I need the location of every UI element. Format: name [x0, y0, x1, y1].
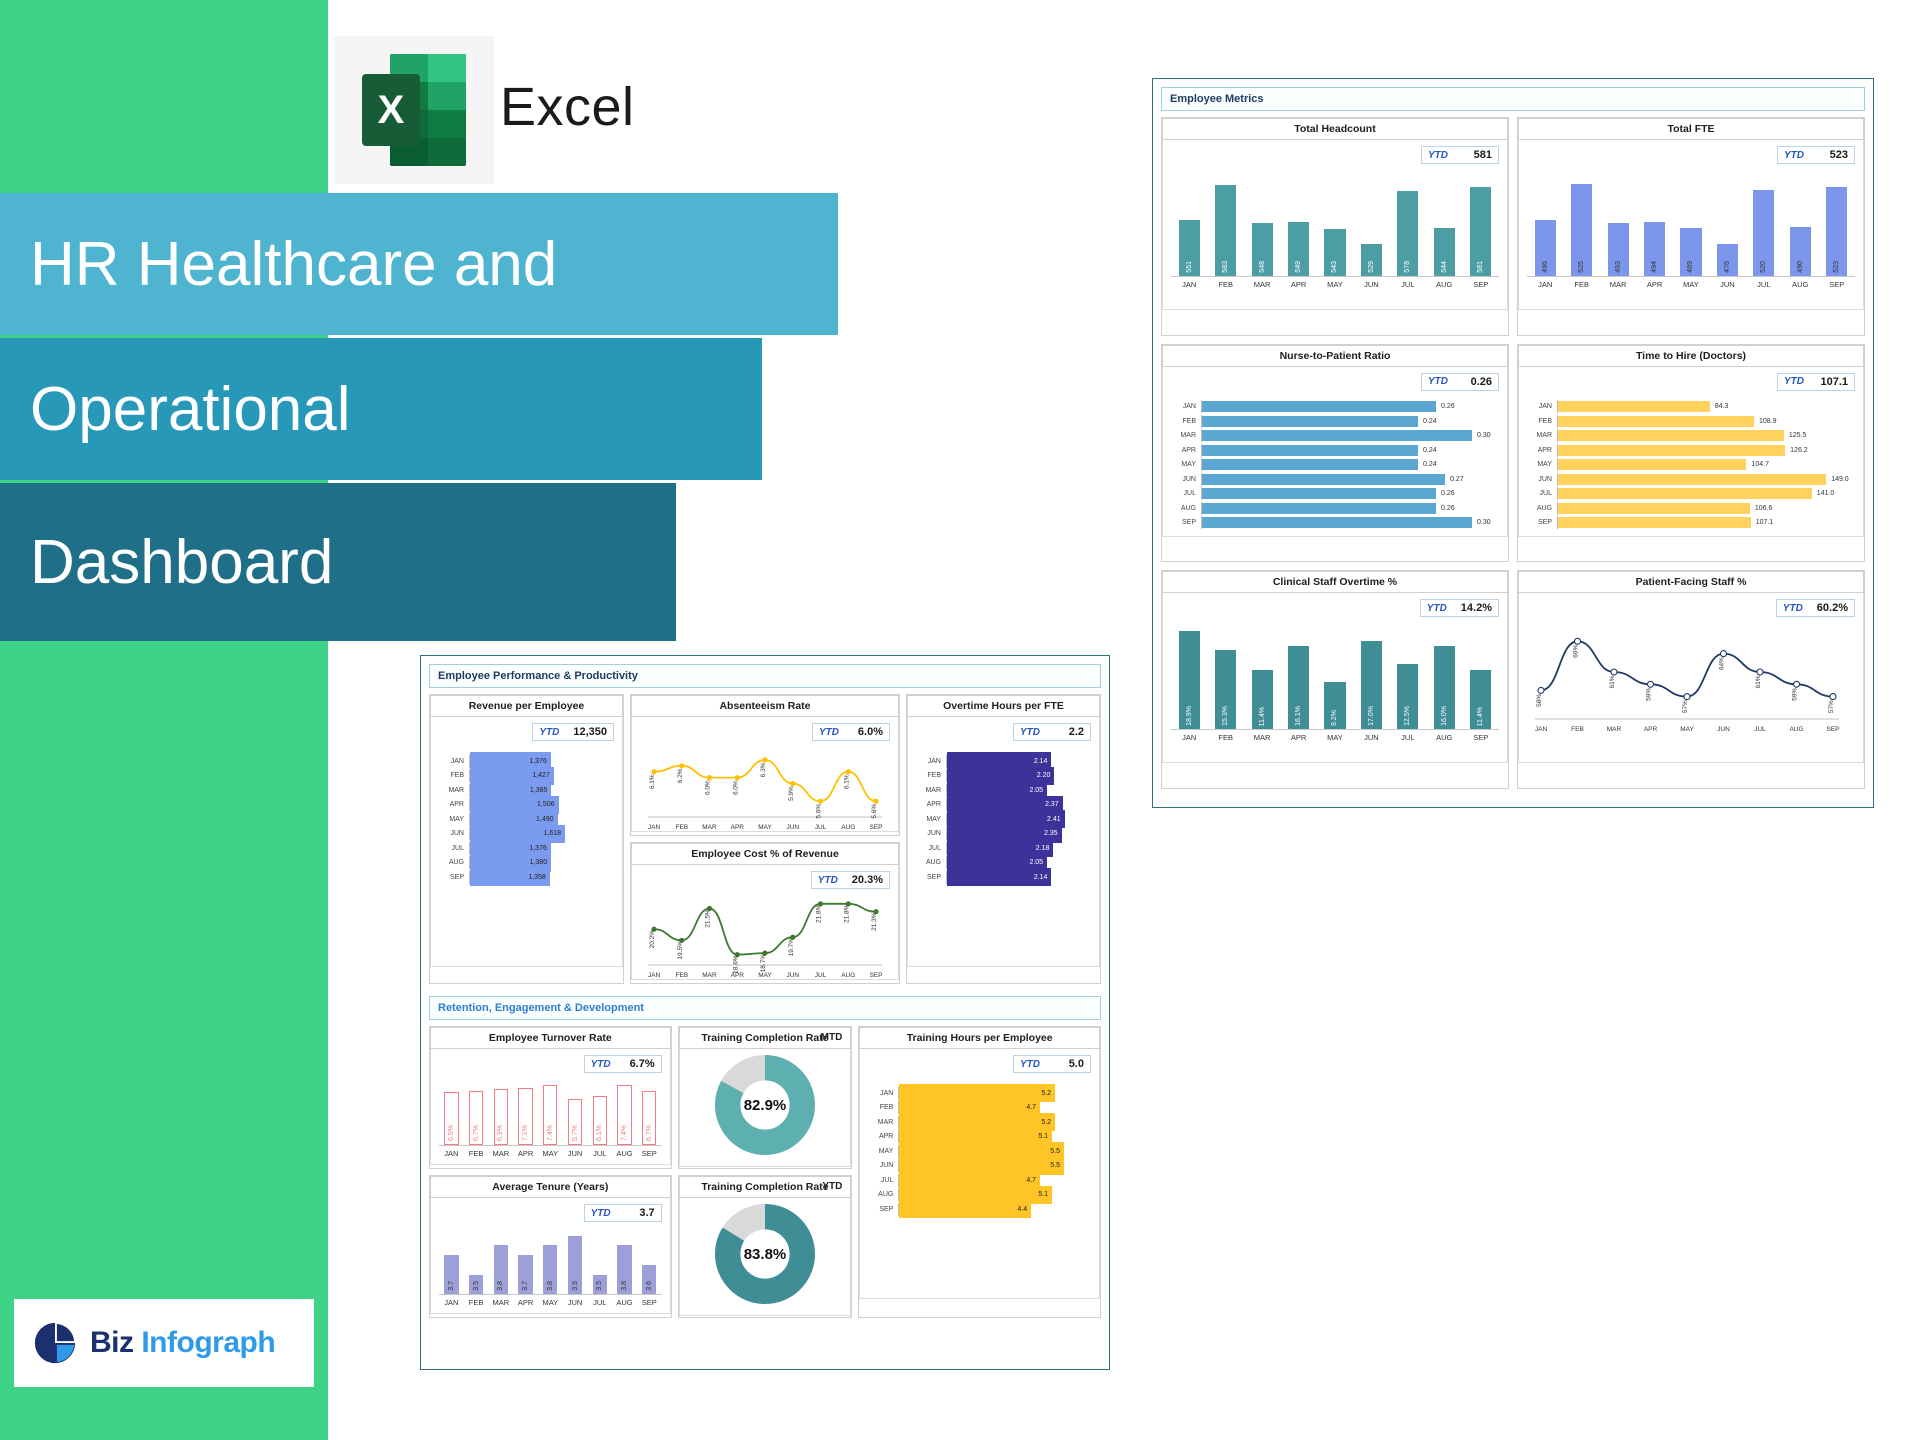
category-label: AUG [868, 1191, 898, 1198]
data-point [1757, 669, 1763, 675]
bar: 4.4 [899, 1200, 1031, 1218]
category-label: MAY [1171, 461, 1201, 468]
page-title-line1: HR Healthcare and [0, 193, 838, 335]
bar-column: 6.1% [587, 1077, 612, 1145]
bar-value-label: 1,376 [529, 758, 547, 765]
chart-title: Training Completion RateYTD [679, 1176, 852, 1198]
bar-value-label: 6.5% [448, 1125, 455, 1141]
bar-row: AUG 106.6 [1527, 502, 1855, 515]
bar: 3.5 [593, 1275, 607, 1294]
bar: 548 [1252, 223, 1273, 276]
ytd-label: YTD [539, 727, 559, 738]
data-label: 5.9% [788, 786, 795, 801]
category-label: JAN [439, 758, 469, 765]
ytd-badge: YTD 6.7% [584, 1055, 662, 1073]
bar-column: 581 [1463, 172, 1499, 276]
category-label: JUL [916, 845, 946, 852]
axis-tick-label: FEB [464, 1298, 489, 1307]
bar: 5.7% [568, 1099, 582, 1145]
axis-tick-label: AUG [612, 1149, 637, 1158]
bar [1202, 445, 1418, 456]
bar-column: 9.2% [1317, 625, 1353, 729]
category-label: MAY [868, 1148, 898, 1155]
category-label: SEP [1527, 519, 1557, 526]
bar-value-label: 2.14 [1034, 758, 1048, 765]
bar-value-label: 6.7% [473, 1125, 480, 1141]
category-label: APR [1527, 447, 1557, 454]
axis-tick-label: FEB [675, 824, 688, 831]
chart-title: Total FTE [1518, 118, 1864, 140]
bar-value-label: 3.7 [448, 1281, 455, 1291]
bar-column: 5.7% [563, 1077, 588, 1145]
ytd-badge: YTD 0.26 [1421, 373, 1499, 391]
bar-track: 0.26 [1201, 487, 1499, 500]
ytd-label: YTD [1784, 376, 1804, 387]
axis-tick-label: APR [1280, 280, 1316, 289]
ytd-badge: YTD 14.2% [1420, 599, 1499, 617]
app-name-label: Excel [500, 76, 635, 138]
data-label: 6.3% [760, 762, 767, 777]
bar-column: 6.7% [464, 1077, 489, 1145]
data-label: 6.1% [843, 774, 850, 789]
plot-area: 82.9% [688, 1051, 843, 1159]
bar-column: 493 [1600, 172, 1636, 276]
bar-row: JUN 149.0 [1527, 473, 1855, 486]
bar-row: SEP 1,358 [439, 871, 614, 884]
bar: 543 [1324, 229, 1345, 276]
panel-clinical-staff-overtime: Clinical Staff Overtime % YTD 14.2% 18.9… [1161, 570, 1509, 789]
bar-value-label: 141.0 [1817, 490, 1835, 497]
bar-value-label: 583 [1222, 261, 1229, 273]
bar-value-label: 104.7 [1751, 461, 1769, 468]
axis-tick-label: JAN [1171, 280, 1207, 289]
data-point [1611, 669, 1617, 675]
ytd-badge: YTD 107.1 [1777, 373, 1855, 391]
bar-value-label: 5.2 [1041, 1119, 1051, 1126]
bar-column: 3.5 [587, 1226, 612, 1294]
bar-column: 520 [1746, 172, 1782, 276]
x-axis: JANFEBMARAPRMAYJUNJULAUGSEP [439, 1294, 662, 1307]
axis-tick-label: FEB [675, 972, 688, 979]
bar-track: 2.14 [946, 871, 1091, 884]
biz-infograph-logo: Biz Infograph [14, 1299, 314, 1387]
panel-overtime-hours-per-fte: Overtime Hours per FTE YTD 2.2 JAN 2.14 … [906, 694, 1101, 984]
bar-column: 3.5 [464, 1226, 489, 1294]
bar-value-label: 5.2 [1041, 1090, 1051, 1097]
bar-value-label: 523 [1833, 261, 1840, 273]
bar-column: 17.0% [1353, 625, 1389, 729]
axis-tick-label: APR [731, 824, 745, 831]
chart-title: Employee Cost % of Revenue [631, 843, 899, 865]
category-label: AUG [439, 859, 469, 866]
axis-tick-label: JUL [1746, 280, 1782, 289]
section-header-employee-metrics: Employee Metrics [1161, 87, 1865, 111]
plot-area: 551 583 548 549 543 529 578 [1171, 172, 1499, 276]
bar-column: 578 [1390, 172, 1426, 276]
bar-column: 6.9% [488, 1077, 513, 1145]
bar: 7.4% [543, 1085, 557, 1145]
data-point [651, 769, 656, 774]
chart-title: Total Headcount [1162, 118, 1508, 140]
axis-tick-label: APR [731, 972, 745, 979]
data-label: 61% [1755, 676, 1762, 689]
bar-track: 141.0 [1557, 487, 1855, 500]
plot-area: 496 525 493 494 489 476 520 [1527, 172, 1855, 276]
bar-value-label: 16.0% [1441, 706, 1448, 726]
axis-tick-label: SEP [1826, 726, 1839, 733]
bar: 494 [1644, 222, 1665, 276]
axis-tick-label: JAN [439, 1298, 464, 1307]
excel-logo-badge: X [334, 36, 494, 184]
bar: 493 [1608, 223, 1629, 276]
data-point [735, 775, 740, 780]
bar-track: 107.1 [1557, 516, 1855, 529]
bar: 3.7 [518, 1255, 532, 1294]
axis-tick-label: JUL [1754, 726, 1766, 733]
axis-tick-label: MAY [538, 1149, 563, 1158]
bar: 549 [1288, 222, 1309, 276]
bar-track: 0.26 [1201, 502, 1499, 515]
bar-value-label: 5.1 [1038, 1133, 1048, 1140]
excel-icon: X [362, 54, 466, 166]
bar-value-label: 494 [1651, 261, 1658, 273]
section-header-retention: Retention, Engagement & Development [429, 996, 1101, 1020]
bar-value-label: 578 [1404, 261, 1411, 273]
ytd-label: YTD [591, 1059, 611, 1070]
bar-value-label: 2.05 [1029, 859, 1043, 866]
data-label: 6.0% [705, 780, 712, 795]
axis-tick-label: MAY [1680, 726, 1694, 733]
data-label: 59% [1792, 688, 1799, 701]
category-label: JUN [868, 1162, 898, 1169]
bar-track: 0.30 [1201, 516, 1499, 529]
period-label: MTD [821, 1032, 843, 1043]
data-label: 21.3% [871, 912, 878, 931]
axis-tick-label: MAY [758, 972, 772, 979]
category-label: JUL [1527, 490, 1557, 497]
ytd-badge: YTD 12,350 [532, 723, 614, 741]
ytd-badge: YTD 5.0 [1013, 1055, 1091, 1073]
bar [1202, 474, 1445, 485]
page-title-line3: Dashboard [0, 483, 676, 641]
bar-track: 108.9 [1557, 415, 1855, 428]
plot-area: 6.5% 6.7% 6.9% 7.1% 7.4% 5.7% 6. [439, 1077, 662, 1145]
data-label: 18.7% [760, 954, 767, 973]
axis-tick-label: FEB [1207, 733, 1243, 742]
bar-value-label: 5.1 [1038, 1191, 1048, 1198]
axis-tick-label: MAR [488, 1298, 513, 1307]
axis-tick-label: FEB [1571, 726, 1584, 733]
axis-tick-label: AUG [841, 824, 855, 831]
bar [1558, 474, 1826, 485]
bar-column: 6.7% [637, 1077, 662, 1145]
category-label: APR [439, 801, 469, 808]
axis-tick-label: MAR [1244, 733, 1280, 742]
bar [1558, 430, 1784, 441]
bar-column: 16.1% [1280, 625, 1316, 729]
ytd-badge: YTD 6.0% [812, 723, 890, 741]
data-point [679, 763, 684, 768]
bar-value-label: 543 [1331, 261, 1338, 273]
data-label: 5.6% [816, 804, 823, 819]
bar-value-label: 1,618 [544, 830, 562, 837]
bar-value-label: 1,358 [528, 874, 546, 881]
bar-column: 11.4% [1244, 625, 1280, 729]
bar-value-label: 1,490 [536, 816, 554, 823]
bar-value-label: 520 [1760, 261, 1767, 273]
bar-value-label: 4.7 [1026, 1104, 1036, 1111]
data-point [1830, 694, 1836, 700]
axis-tick-label: APR [1644, 726, 1658, 733]
chart-title: Training Hours per Employee [859, 1027, 1100, 1049]
bar-value-label: 7.1% [522, 1125, 529, 1141]
bar: 17.0% [1361, 641, 1382, 729]
axis-tick-label: AUG [1782, 280, 1818, 289]
bar-value-label: 3.5 [473, 1281, 480, 1291]
bar: 18.9% [1179, 631, 1200, 729]
category-label: AUG [1527, 505, 1557, 512]
panel-nurse-to-patient-ratio: Nurse-to-Patient Ratio YTD 0.26 JAN 0.26… [1161, 344, 1509, 563]
bar: 3.8 [494, 1245, 508, 1294]
axis-tick-label: JAN [648, 972, 661, 979]
ytd-label: YTD [1428, 376, 1448, 387]
ytd-value: 3.7 [639, 1207, 654, 1219]
ytd-value: 60.2% [1817, 602, 1848, 614]
bar-column: 3.8 [612, 1226, 637, 1294]
bar-value-label: 125.5 [1789, 432, 1807, 439]
panel-total-fte: Total FTE YTD 523 496 525 493 494 489 [1517, 117, 1865, 336]
axis-tick-label: APR [1280, 733, 1316, 742]
ytd-label: YTD [1784, 150, 1804, 161]
bar [1558, 445, 1785, 456]
axis-tick-label: JUN [1709, 280, 1745, 289]
bar-column: 544 [1426, 172, 1462, 276]
axis-tick-label: JAN [1171, 733, 1207, 742]
axis-tick-label: MAR [488, 1149, 513, 1158]
x-axis: JANFEBMARAPRMAYJUNJULAUGSEP [1527, 276, 1855, 289]
bar-value-label: 1,385 [530, 787, 548, 794]
bar: 578 [1397, 191, 1418, 276]
bar-value-label: 551 [1186, 261, 1193, 273]
axis-tick-label: JUL [587, 1149, 612, 1158]
bar-value-label: 2.18 [1036, 845, 1050, 852]
bar-value-label: 1,427 [532, 772, 550, 779]
ytd-label: YTD [1428, 150, 1448, 161]
logo-primary-text: Biz [90, 1326, 134, 1359]
ytd-badge: YTD 3.7 [584, 1204, 662, 1222]
category-label: FEB [439, 772, 469, 779]
bar-column: 18.9% [1171, 625, 1207, 729]
bar [1202, 459, 1418, 470]
bar: 583 [1215, 185, 1236, 276]
bar-value-label: 84.3 [1715, 403, 1729, 410]
axis-tick-label: JAN [648, 824, 661, 831]
bar-column: 549 [1280, 172, 1316, 276]
data-label: 66% [1573, 645, 1580, 658]
bar-row: APR 126.2 [1527, 444, 1855, 457]
bar-value-label: 12.5% [1404, 706, 1411, 726]
category-label: JUL [439, 845, 469, 852]
bar-value-label: 9.2% [1331, 710, 1338, 726]
ytd-value: 20.3% [852, 874, 883, 886]
bar: 12.5% [1397, 664, 1418, 729]
data-label: 20.2% [649, 930, 656, 949]
axis-tick-label: JUL [815, 824, 827, 831]
chart-title: Nurse-to-Patient Ratio [1162, 345, 1508, 367]
bar-value-label: 1,506 [537, 801, 555, 808]
data-label: 6.2% [677, 768, 684, 783]
axis-tick-label: MAY [758, 824, 772, 831]
data-point [846, 769, 851, 774]
bar-track: 84.3 [1557, 400, 1855, 413]
bar-row: APR 0.24 [1171, 444, 1499, 457]
category-label: JAN [1527, 403, 1557, 410]
axis-tick-label: JUN [786, 824, 799, 831]
bar: 490 [1790, 227, 1811, 276]
bar: 7.1% [518, 1088, 532, 1145]
axis-tick-label: MAR [1244, 280, 1280, 289]
data-point [1648, 682, 1654, 688]
bar [1202, 517, 1472, 528]
bar-column: 489 [1673, 172, 1709, 276]
bar [1558, 503, 1750, 514]
bar-value-label: 0.26 [1441, 505, 1455, 512]
category-label: JUL [868, 1177, 898, 1184]
bar-value-label: 544 [1441, 261, 1448, 273]
chart-title: Revenue per Employee [430, 695, 623, 717]
bar: 2.14 [947, 868, 1051, 886]
axis-tick-label: SEP [869, 824, 882, 831]
ytd-value: 107.1 [1820, 376, 1848, 388]
bar-value-label: 4.4 [1017, 1206, 1027, 1213]
bar: 3.7 [444, 1255, 458, 1294]
category-label: SEP [916, 874, 946, 881]
bar-value-label: 4.7 [1026, 1177, 1036, 1184]
bar-row: FEB 0.24 [1171, 415, 1499, 428]
bar-value-label: 3.9 [572, 1281, 579, 1291]
data-label: 59% [1646, 688, 1653, 701]
bar-column: 529 [1353, 172, 1389, 276]
category-label: MAR [916, 787, 946, 794]
bar-track: 0.26 [1201, 400, 1499, 413]
bar-value-label: 6.7% [646, 1125, 653, 1141]
bar: 6.1% [593, 1096, 607, 1145]
page-title-line2: Operational [0, 338, 762, 480]
category-label: JUN [1527, 476, 1557, 483]
data-point [1721, 651, 1727, 657]
bar-column: 3.6 [637, 1226, 662, 1294]
category-label: JAN [868, 1090, 898, 1097]
data-label: 21.5% [705, 909, 712, 928]
bar-value-label: 3.8 [497, 1281, 504, 1291]
bar: 3.6 [642, 1265, 656, 1294]
chart-title: Patient-Facing Staff % [1518, 571, 1864, 593]
bar-column: 11.4% [1463, 625, 1499, 729]
bar-row: SEP 4.4 [868, 1203, 1091, 1216]
bar-value-label: 0.26 [1441, 490, 1455, 497]
bar-value-label: 0.24 [1423, 418, 1437, 425]
performance-retention-dashboard: Employee Performance & Productivity Reve… [420, 655, 1110, 1370]
axis-tick-label: JUN [1717, 726, 1730, 733]
bar-column: 548 [1244, 172, 1280, 276]
bar-value-label: 18.9% [1186, 706, 1193, 726]
bar-value-label: 548 [1259, 261, 1266, 273]
bar-value-label: 549 [1295, 261, 1302, 273]
donut-center-label: 83.8% [744, 1246, 787, 1263]
category-label: APR [916, 801, 946, 808]
bar-column: 7.1% [513, 1077, 538, 1145]
data-label: 6.0% [732, 780, 739, 795]
axis-tick-label: SEP [869, 972, 882, 979]
bar-row: FEB 108.9 [1527, 415, 1855, 428]
axis-tick-label: AUG [1426, 733, 1462, 742]
bar-row: MAR 0.30 [1171, 429, 1499, 442]
bar-row: SEP 107.1 [1527, 516, 1855, 529]
axis-tick-label: SEP [637, 1149, 662, 1158]
panel-training-completion-mtd: Training Completion RateMTD 82.9% [678, 1026, 853, 1169]
category-label: FEB [868, 1104, 898, 1111]
bar-track: 126.2 [1557, 444, 1855, 457]
data-label: 57% [1828, 700, 1835, 713]
bar-row: SEP 2.14 [916, 871, 1091, 884]
bar: 551 [1179, 220, 1200, 276]
axis-tick-label: AUG [1789, 726, 1803, 733]
bar-column: 3.7 [513, 1226, 538, 1294]
bar-value-label: 108.9 [1759, 418, 1777, 425]
bar-column: 583 [1207, 172, 1243, 276]
category-label: JUN [439, 830, 469, 837]
data-point [1538, 688, 1544, 694]
axis-tick-label: MAR [702, 824, 717, 831]
bar-value-label: 16.1% [1295, 706, 1302, 726]
ytd-value: 523 [1830, 149, 1848, 161]
ytd-label: YTD [591, 1208, 611, 1219]
bar-column: 525 [1563, 172, 1599, 276]
plot-area: 20.2%19.5%21.5%18.6%18.7%19.7%21.8%21.8%… [640, 893, 890, 981]
ytd-badge: YTD 2.2 [1013, 723, 1091, 741]
axis-tick-label: MAR [702, 972, 717, 979]
bar-value-label: 5.5 [1050, 1162, 1060, 1169]
data-label: 58% [1536, 694, 1543, 707]
ytd-label: YTD [1020, 727, 1040, 738]
bar: 525 [1571, 184, 1592, 276]
bar-value-label: 6.9% [497, 1125, 504, 1141]
bar: 489 [1680, 228, 1701, 276]
category-label: SEP [439, 874, 469, 881]
bar-column: 3.7 [439, 1226, 464, 1294]
bar-column: 3.8 [538, 1226, 563, 1294]
panel-employee-cost-pct-revenue: Employee Cost % of Revenue YTD 20.3% 20.… [630, 842, 900, 984]
bar-column: 16.0% [1426, 625, 1462, 729]
axis-tick-label: JAN [439, 1149, 464, 1158]
data-point [1684, 694, 1690, 700]
bar: 16.1% [1288, 646, 1309, 730]
bar-value-label: 2.35 [1044, 830, 1058, 837]
bar: 11.4% [1252, 670, 1273, 729]
bar-track: 125.5 [1557, 429, 1855, 442]
panel-absenteeism-rate: Absenteeism Rate YTD 6.0% 6.1%6.2%6.0%6.… [630, 694, 900, 836]
bar: 16.0% [1434, 646, 1455, 729]
bar: 520 [1753, 190, 1774, 276]
axis-tick-label: JUL [587, 1298, 612, 1307]
ytd-value: 2.2 [1069, 726, 1084, 738]
ytd-badge: YTD 581 [1421, 146, 1499, 164]
bar-column: 7.4% [538, 1077, 563, 1145]
panel-training-completion-ytd: Training Completion RateYTD 83.8% [678, 1175, 853, 1318]
category-label: MAY [916, 816, 946, 823]
bar-value-label: 6.1% [596, 1125, 603, 1141]
bar-row: MAY 0.24 [1171, 458, 1499, 471]
